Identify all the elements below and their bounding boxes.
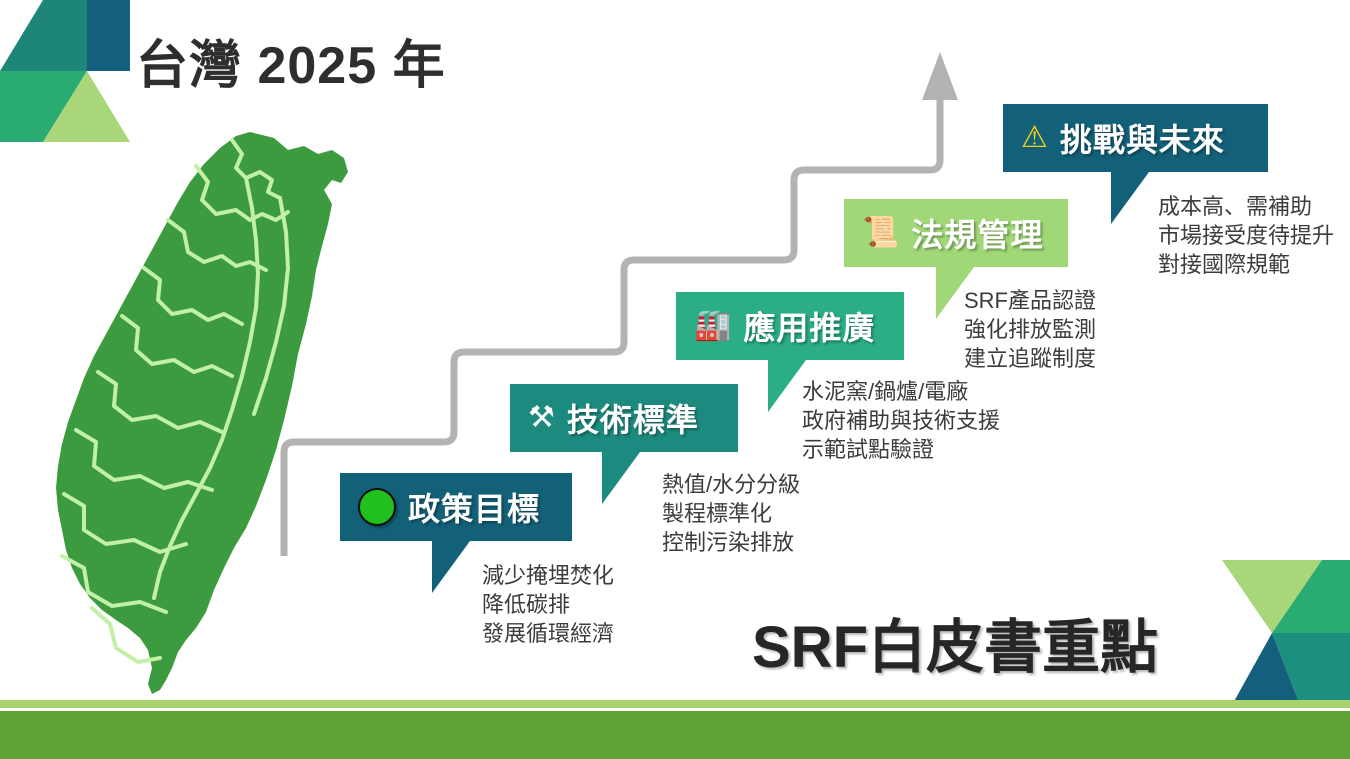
step-banner-1[interactable]: 政策目標 xyxy=(340,473,572,541)
taiwan-landmass xyxy=(56,132,348,694)
step-banner-3[interactable]: 🏭 應用推廣 xyxy=(676,292,904,360)
caption-line: 成本高、需補助 xyxy=(1158,192,1334,221)
step-policy-goals[interactable]: 政策目標 xyxy=(340,473,572,541)
step-regulatory-management[interactable]: 📜 法規管理 xyxy=(844,199,1068,267)
caption-line: SRF產品認證 xyxy=(964,286,1096,315)
footer-title-latin: SRF xyxy=(752,615,868,680)
footer-bar-dark xyxy=(0,711,1350,759)
taiwan-map xyxy=(36,128,376,704)
step-banner-5[interactable]: ⚠ 挑戰與未來 xyxy=(1003,104,1268,172)
step-banner-4[interactable]: 📜 法規管理 xyxy=(844,199,1068,267)
caption-line: 建立追蹤制度 xyxy=(964,344,1096,373)
caption-line: 政府補助與技術支援 xyxy=(802,406,1000,435)
step-title-2: 技術標準 xyxy=(567,395,699,441)
footer-bar-light xyxy=(0,700,1350,708)
step-banner-2[interactable]: ⚒ 技術標準 xyxy=(510,384,738,452)
caption-line: 熱值/水分分級 xyxy=(662,470,800,499)
scroll-icon: 📜 xyxy=(862,218,899,248)
step-caption-2: 熱值/水分分級 製程標準化 控制污染排放 xyxy=(662,470,800,557)
caption-line: 水泥窯/鍋爐/電廠 xyxy=(802,377,1000,406)
staircase-arrow-head xyxy=(922,52,958,100)
step-title-3: 應用推廣 xyxy=(743,303,875,349)
caption-line: 控制污染排放 xyxy=(662,528,800,557)
step-tail-1 xyxy=(432,541,470,593)
caption-line: 降低碳排 xyxy=(482,590,614,619)
step-caption-3: 水泥窯/鍋爐/電廠 政府補助與技術支援 示範試點驗證 xyxy=(802,377,1000,464)
caption-line: 發展循環經濟 xyxy=(482,619,614,648)
hammer-and-pick-icon: ⚒ xyxy=(528,403,555,433)
step-tail-5 xyxy=(1111,172,1149,224)
step-caption-4: SRF產品認證 強化排放監測 建立追蹤制度 xyxy=(964,286,1096,373)
chevron-logo-svg xyxy=(0,0,130,142)
caption-line: 市場接受度待提升 xyxy=(1158,221,1334,250)
slide-canvas: 台灣 2025 年 xyxy=(0,0,1350,759)
step-title-5: 挑戰與未來 xyxy=(1060,115,1225,161)
footer-title: SRF白皮書重點 xyxy=(752,600,1158,684)
page-title: 台灣 2025 年 xyxy=(136,23,446,98)
caption-line: 示範試點驗證 xyxy=(802,435,1000,464)
warning-triangle-icon: ⚠ xyxy=(1021,123,1048,153)
caption-line: 製程標準化 xyxy=(662,499,800,528)
chevron-upper-right-triangle xyxy=(87,0,130,71)
step-caption-1: 減少掩埋焚化 降低碳排 發展循環經濟 xyxy=(482,561,614,648)
chevron-logo-top-left xyxy=(0,0,130,142)
step-caption-5: 成本高、需補助 市場接受度待提升 對接國際規範 xyxy=(1158,192,1334,279)
factory-icon: 🏭 xyxy=(694,311,731,341)
step-technical-standards[interactable]: ⚒ 技術標準 xyxy=(510,384,738,452)
step-title-1: 政策目標 xyxy=(408,484,540,530)
step-application-promotion[interactable]: 🏭 應用推廣 xyxy=(676,292,904,360)
taiwan-outline xyxy=(56,132,348,694)
step-tail-2 xyxy=(602,452,640,504)
chevron-logo-svg-2 xyxy=(1222,560,1350,705)
caption-line: 強化排放監測 xyxy=(964,315,1096,344)
step-challenges-and-future[interactable]: ⚠ 挑戰與未來 xyxy=(1003,104,1268,172)
taiwan-map-svg xyxy=(36,128,376,704)
step-tail-3 xyxy=(768,360,806,412)
step-title-4: 法規管理 xyxy=(911,210,1043,256)
caption-line: 減少掩埋焚化 xyxy=(482,561,614,590)
caption-line: 對接國際規範 xyxy=(1158,250,1334,279)
green-circle-icon xyxy=(358,488,396,526)
footer-title-cjk: 白皮書重點 xyxy=(868,613,1158,681)
chevron-logo-bottom-right xyxy=(1222,560,1350,705)
